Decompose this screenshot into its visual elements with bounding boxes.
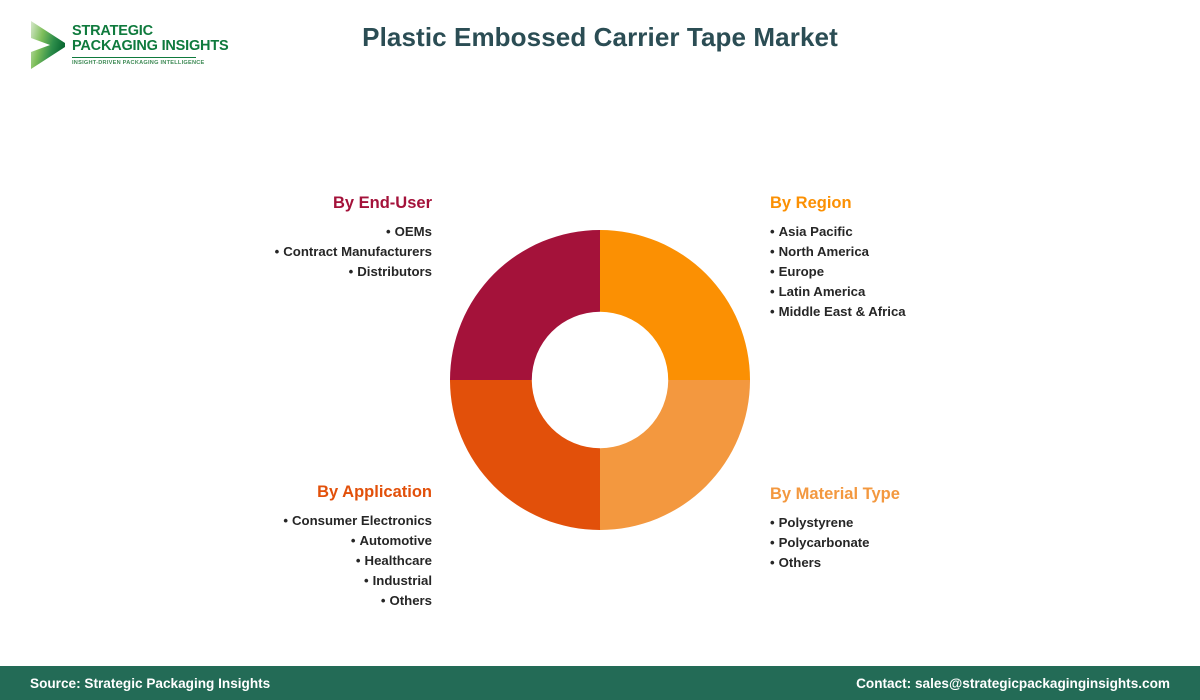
donut-slice-region[interactable] [600,230,750,380]
list-item: •Industrial [150,571,432,591]
list-item-label: OEMs [395,224,432,239]
list-item: •Consumer Electronics [150,511,432,531]
logo-divider [72,57,196,58]
footer-contact[interactable]: Contact: sales@strategicpackaginginsight… [856,676,1170,691]
bullet-icon: • [770,533,775,553]
list-item: •Asia Pacific [770,222,1070,242]
infographic-page: STRATEGIC PACKAGING INSIGHTS INSIGHT-DRI… [0,0,1200,700]
list-item-label: Others [779,555,822,570]
list-item: •Polystyrene [770,513,1070,533]
list-item-label: Contract Manufacturers [283,244,432,259]
segment-region-list: •Asia Pacific •North America •Europe •La… [770,222,1070,322]
list-item-label: Healthcare [365,553,432,568]
segment-application: By Application •Consumer Electronics •Au… [150,482,432,611]
list-item: •OEMs [160,222,432,242]
list-item-label: Europe [779,264,824,279]
bullet-icon: • [770,262,775,282]
list-item-label: Automotive [359,533,432,548]
bullet-icon: • [770,282,775,302]
bullet-icon: • [770,302,775,322]
bullet-icon: • [770,513,775,533]
list-item-label: North America [779,244,869,259]
list-item-label: Middle East & Africa [779,304,906,319]
donut-slice-application[interactable] [450,380,600,530]
segment-end-user-title: By End-User [160,193,432,213]
page-title: Plastic Embossed Carrier Tape Market [0,22,1200,53]
segment-region: By Region •Asia Pacific •North America •… [770,193,1070,322]
segment-region-title: By Region [770,193,1070,213]
donut-slice-material-type[interactable] [600,380,750,530]
segment-application-list: •Consumer Electronics •Automotive •Healt… [150,511,432,611]
segment-material-type-title: By Material Type [770,484,1070,504]
list-item-label: Polycarbonate [779,535,870,550]
bullet-icon: • [770,553,775,573]
segment-end-user-list: •OEMs •Contract Manufacturers •Distribut… [160,222,432,282]
bullet-icon: • [381,591,386,611]
list-item-label: Industrial [373,573,432,588]
bullet-icon: • [364,571,369,591]
list-item: •Polycarbonate [770,533,1070,553]
list-item: •Automotive [150,531,432,551]
segment-application-title: By Application [150,482,432,502]
bullet-icon: • [770,222,775,242]
segment-material-type: By Material Type •Polystyrene •Polycarbo… [770,484,1070,573]
footer-bar: Source: Strategic Packaging Insights Con… [0,666,1200,700]
bullet-icon: • [386,222,391,242]
list-item: •Contract Manufacturers [160,242,432,262]
list-item: •Others [770,553,1070,573]
logo-tagline: INSIGHT-DRIVEN PACKAGING INTELLIGENCE [72,60,228,67]
segment-material-type-list: •Polystyrene •Polycarbonate •Others [770,513,1070,573]
bullet-icon: • [770,242,775,262]
list-item: •Healthcare [150,551,432,571]
bullet-icon: • [283,511,288,531]
list-item: •Europe [770,262,1070,282]
donut-svg [450,230,750,530]
list-item: •Others [150,591,432,611]
list-item-label: Consumer Electronics [292,513,432,528]
list-item-label: Asia Pacific [779,224,853,239]
list-item-label: Distributors [357,264,432,279]
list-item-label: Others [389,593,432,608]
list-item-label: Latin America [779,284,866,299]
bullet-icon: • [275,242,280,262]
bullet-icon: • [349,262,354,282]
list-item: •North America [770,242,1070,262]
donut-slice-end-user[interactable] [450,230,600,380]
segment-end-user: By End-User •OEMs •Contract Manufacturer… [160,193,432,282]
list-item: •Distributors [160,262,432,282]
bullet-icon: • [351,531,356,551]
bullet-icon: • [356,551,361,571]
footer-source: Source: Strategic Packaging Insights [30,676,270,691]
list-item: •Middle East & Africa [770,302,1070,322]
segmentation-donut-chart [450,230,750,530]
list-item-label: Polystyrene [779,515,854,530]
list-item: •Latin America [770,282,1070,302]
